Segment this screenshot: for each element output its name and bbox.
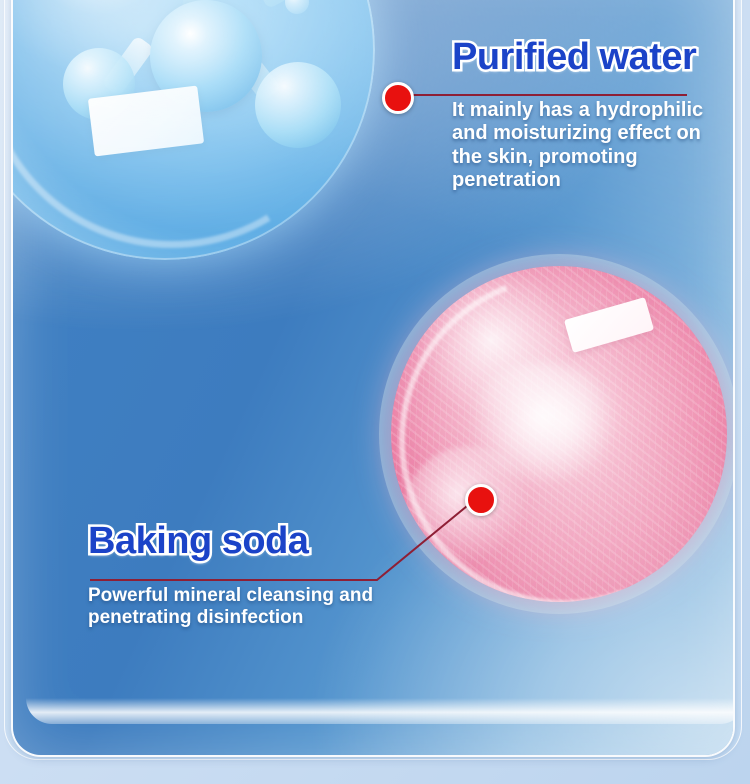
callout-title-purified-water: Purified water — [452, 36, 724, 79]
callout-title-baking-soda: Baking soda — [88, 520, 388, 563]
blue-molecule-sphere — [13, 0, 375, 260]
callout-purified-water: Purified water It mainly has a hydrophil… — [452, 36, 724, 193]
callout-body-baking-soda: Powerful mineral cleansing and penetrati… — [88, 585, 388, 629]
water-marker-dot[interactable] — [382, 82, 414, 114]
callout-baking-soda: Baking soda Powerful mineral cleansing a… — [88, 520, 388, 629]
infographic-canvas: Purified water It mainly has a hydrophil… — [0, 0, 750, 784]
soda-marker-dot[interactable] — [465, 484, 497, 516]
panel-bottom-gloss — [26, 698, 733, 724]
callout-body-purified-water: It mainly has a hydrophilic and moisturi… — [452, 99, 724, 193]
pink-crystal-sphere — [391, 266, 727, 602]
